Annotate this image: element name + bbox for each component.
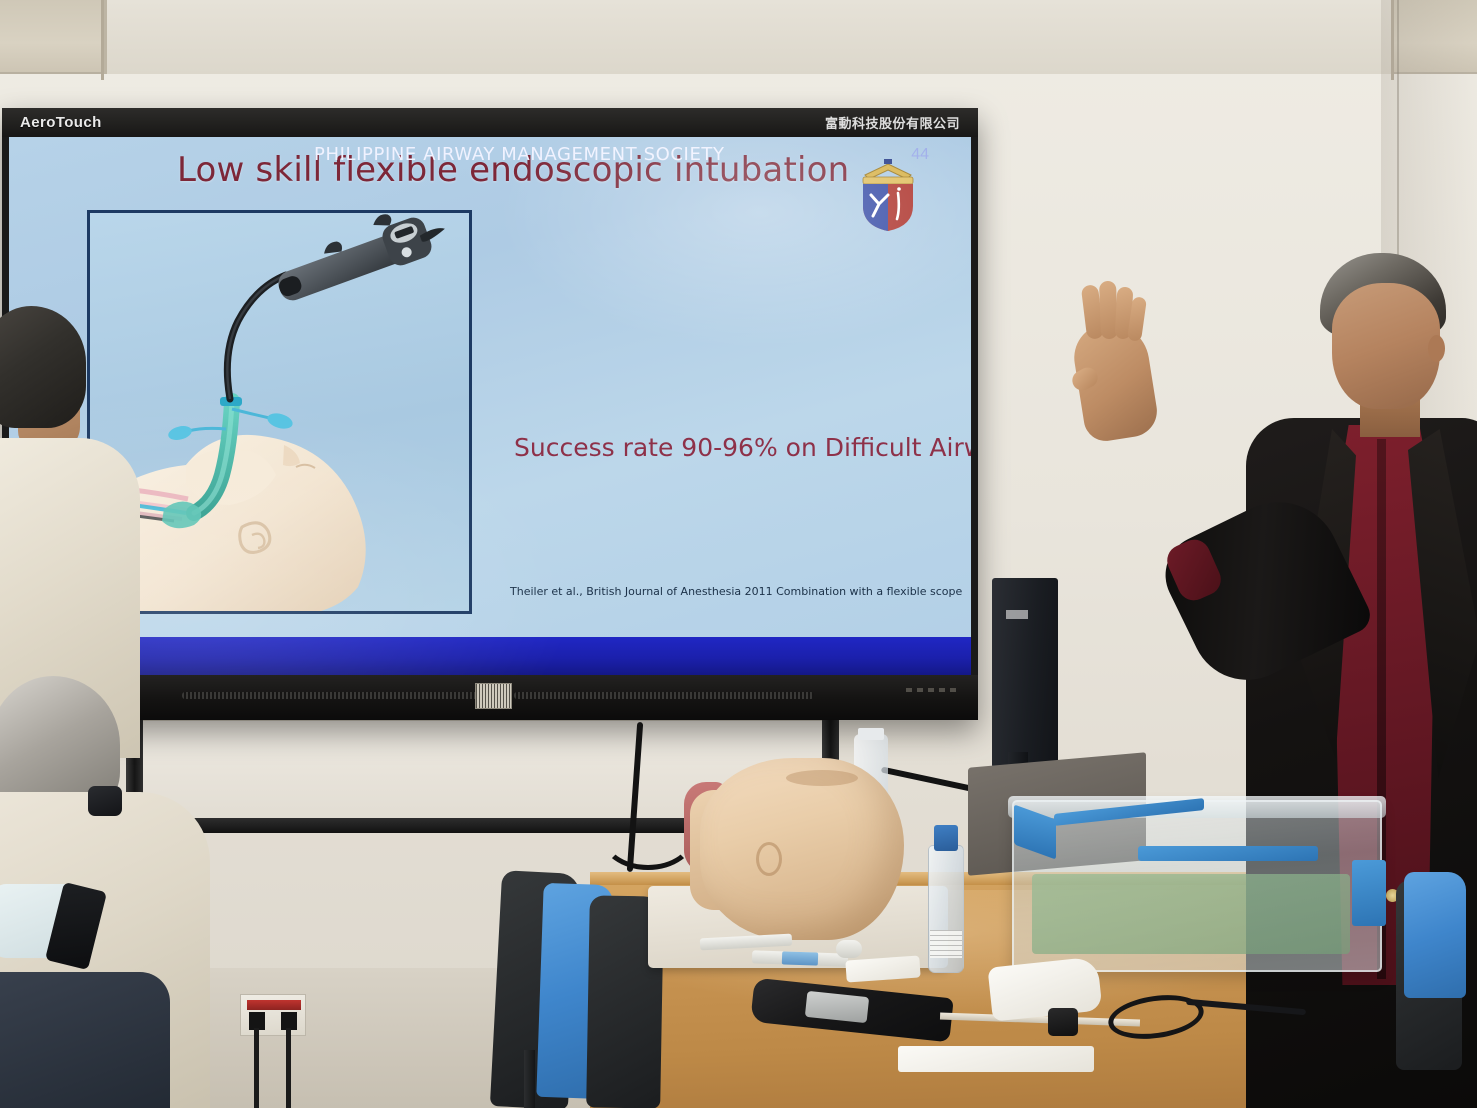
tissue-paper-right <box>987 956 1102 1021</box>
storage-box-latch-right[interactable] <box>1352 860 1386 926</box>
display-manufacturer-label: 富動科技股份有限公司 <box>825 113 960 132</box>
interactive-display[interactable]: AeroTouch 富動科技股份有限公司 Low skill flexible … <box>2 108 978 720</box>
wall-seam-left <box>101 0 104 80</box>
slide-footer-bar <box>9 637 971 675</box>
display-cable-loop <box>600 800 696 870</box>
outlet-cord-left <box>254 1028 259 1108</box>
endoscopic-intubation-figure <box>87 210 472 614</box>
endoscope-connector <box>1048 1008 1078 1036</box>
screenshot-root: AeroTouch 富動科技股份有限公司 Low skill flexible … <box>0 0 1477 1108</box>
display-bezel-bottom <box>2 675 978 720</box>
monitor[interactable] <box>992 578 1058 768</box>
presenter-ear <box>1428 335 1445 362</box>
audience-member-second-lap <box>0 972 170 1108</box>
chair-pole <box>524 1050 535 1108</box>
slide-citation: Theiler et al., British Journal of Anest… <box>510 585 962 598</box>
tissue-paper-front <box>898 1046 1094 1072</box>
syringe-plunger <box>782 951 818 965</box>
display-indicator-1 <box>906 688 912 692</box>
wristwatch <box>88 786 122 816</box>
slide-success-rate-text: Success rate 90-96% on Difficult Airways <box>514 433 971 462</box>
display-indicator-2 <box>917 688 923 692</box>
slide-footer-organization: PHILIPPINE AIRWAY MANAGEMENT SOCIETY <box>314 144 725 165</box>
display-brand-label: AeroTouch <box>20 114 102 131</box>
speaker-grille-left <box>182 692 482 699</box>
water-bottle-cap <box>858 728 884 740</box>
outlet-red-strip <box>247 1000 301 1010</box>
airway-manikin-head[interactable] <box>700 758 904 940</box>
philippine-airway-management-society-crest-icon <box>857 155 919 231</box>
wall-recess <box>104 0 1394 74</box>
display-screen[interactable]: Low skill flexible endoscopic intubation <box>9 137 971 675</box>
storage-box-latch-front[interactable] <box>1138 846 1318 861</box>
display-indicator-5 <box>950 688 956 692</box>
display-indicator-3 <box>928 688 934 692</box>
display-model-label <box>475 683 512 709</box>
slide-page-number: 44 <box>911 146 929 164</box>
presentation-slide[interactable]: Low skill flexible endoscopic intubation <box>9 137 971 675</box>
manikin-brow <box>786 770 858 786</box>
presenter-head <box>1332 283 1440 409</box>
monitor-logo <box>1006 610 1028 619</box>
lubricant-bottle-label <box>930 930 962 958</box>
display-bezel-top: AeroTouch 富動科技股份有限公司 <box>2 108 978 137</box>
outlet-cord-right <box>286 1028 291 1108</box>
speaker-grille-right <box>514 692 814 699</box>
display-indicator-row <box>906 688 956 692</box>
lubricant-bottle-cap <box>934 825 958 851</box>
storage-box-contents <box>1032 874 1350 954</box>
display-indicator-4 <box>939 688 945 692</box>
chair-back-right-blue <box>1404 872 1466 998</box>
syringe-connector <box>836 940 862 958</box>
manikin-ear <box>756 842 782 876</box>
